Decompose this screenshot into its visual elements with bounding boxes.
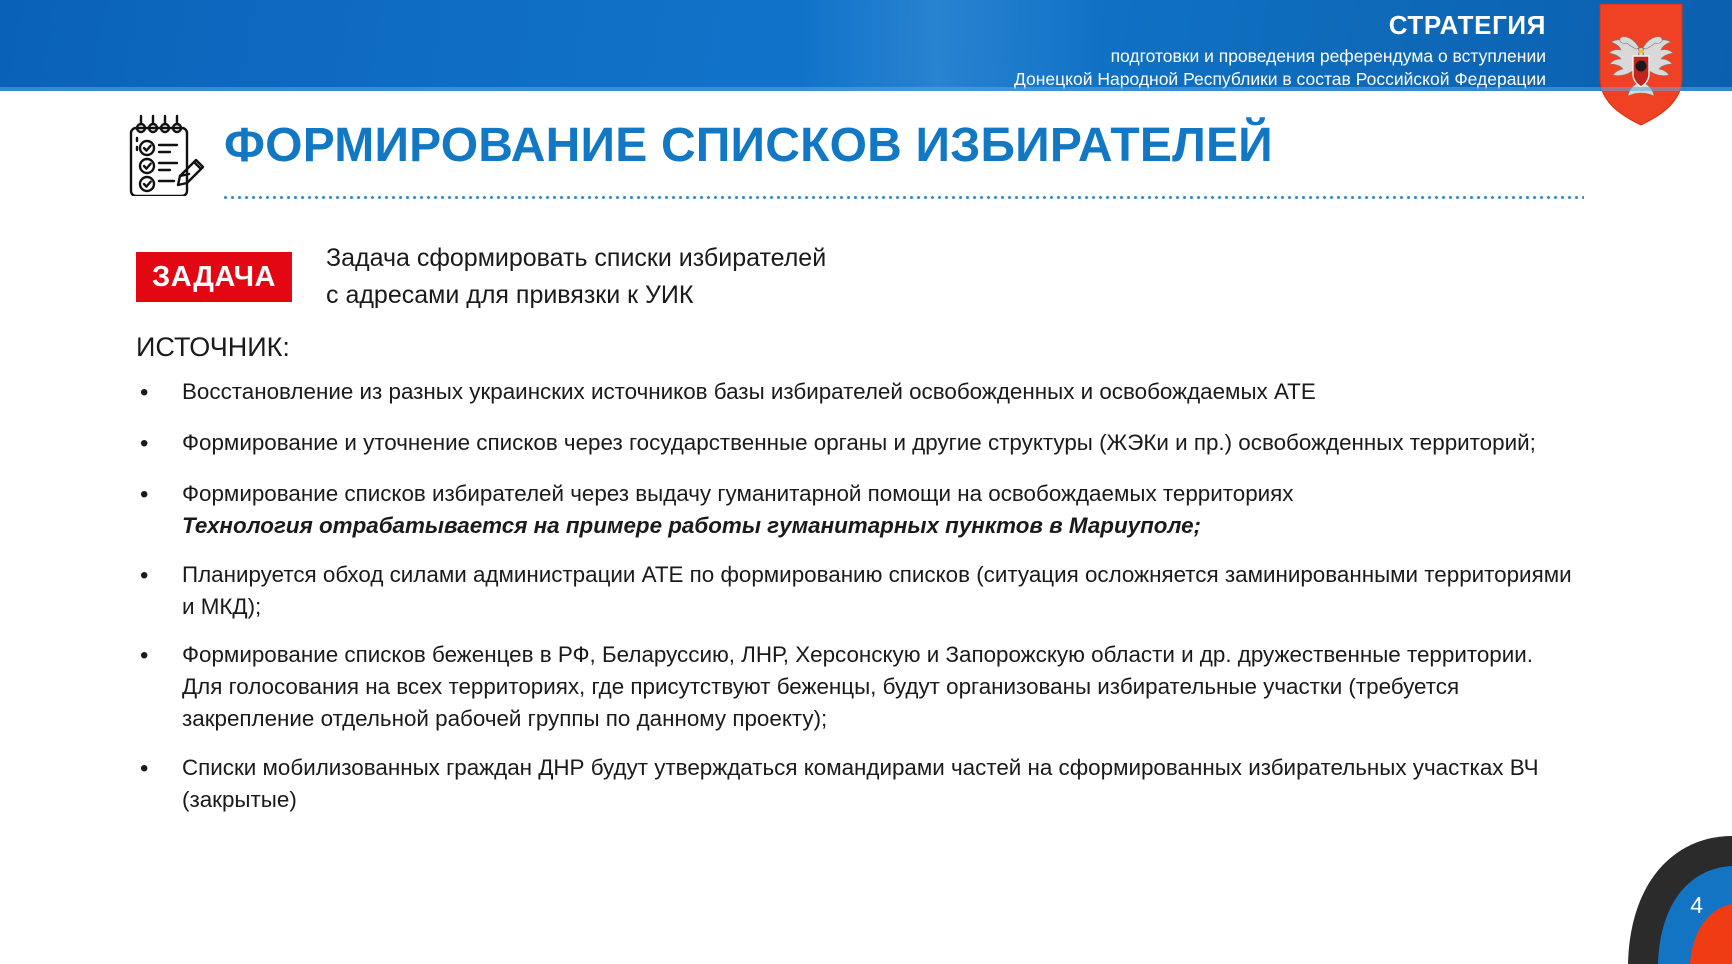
bullet-glyph: • [136,752,182,786]
list-item-main: Формирование и уточнение списков через г… [182,430,1536,455]
list-item-text: Восстановление из разных украинских исто… [182,376,1586,408]
header-subtitle-line-1: подготовки и проведения референдума о вс… [1014,45,1546,68]
list-item-main: Списки мобилизованных граждан ДНР будут … [182,755,1539,812]
list-item-text: Формирование списков избирателей через в… [182,478,1586,542]
list-item-text: Формирование и уточнение списков через г… [182,427,1586,459]
list-item-main: Планируется обход силами администрации А… [182,562,1572,619]
bullet-glyph: • [136,427,182,461]
list-item: • Списки мобилизованных граждан ДНР буду… [136,752,1586,816]
list-item: • Формирование списков беженцев в РФ, Бе… [136,639,1586,734]
header-text-block: СТРАТЕГИЯ подготовки и проведения рефере… [1014,12,1546,91]
page-number: 4 [1690,892,1703,919]
title-dotted-divider [222,196,1584,199]
list-item: • Формирование списков избирателей через… [136,478,1586,542]
bullet-glyph: • [136,639,182,673]
bullet-glyph: • [136,559,182,593]
list-item-extra: Для голосования на всех территориях, где… [182,671,1586,735]
list-item-main: Восстановление из разных украинских исто… [182,379,1316,404]
task-text-line-1: Задача сформировать списки избирателей [326,240,826,277]
list-item: • Планируется обход силами администрации… [136,559,1586,623]
slide-title-row: ФОРМИРОВАНИЕ СПИСКОВ ИЗБИРАТЕЛЕЙ [124,112,1584,196]
task-text: Задача сформировать списки избирателей с… [326,240,826,314]
list-item-main: Формирование списков избирателей через в… [182,481,1293,506]
list-item-main: Формирование списков беженцев в РФ, Бела… [182,642,1533,667]
source-label: ИСТОЧНИК: [136,332,290,363]
task-badge: ЗАДАЧА [136,252,292,302]
checklist-notepad-pencil-icon [124,114,208,196]
list-item-emphasis: Технология отрабатывается на примере раб… [182,510,1586,542]
task-text-line-2: с адресами для привязки к УИК [326,277,826,314]
bullet-glyph: • [136,478,182,512]
list-item-text: Формирование списков беженцев в РФ, Бела… [182,639,1586,734]
dnr-coat-of-arms-icon [1598,4,1684,126]
page-title: ФОРМИРОВАНИЕ СПИСКОВ ИЗБИРАТЕЛЕЙ [224,118,1273,173]
list-item-text: Списки мобилизованных граждан ДНР будут … [182,752,1586,816]
bullet-glyph: • [136,376,182,410]
list-item: • Формирование и уточнение списков через… [136,427,1586,461]
source-bullet-list: • Восстановление из разных украинских ис… [136,376,1586,832]
header-title: СТРАТЕГИЯ [1014,12,1546,38]
list-item-text: Планируется обход силами администрации А… [182,559,1586,623]
header-subtitle-line-2: Донецкой Народной Республики в состав Ро… [1014,68,1546,91]
header-bar: СТРАТЕГИЯ подготовки и проведения рефере… [0,0,1732,91]
list-item: • Восстановление из разных украинских ис… [136,376,1586,410]
